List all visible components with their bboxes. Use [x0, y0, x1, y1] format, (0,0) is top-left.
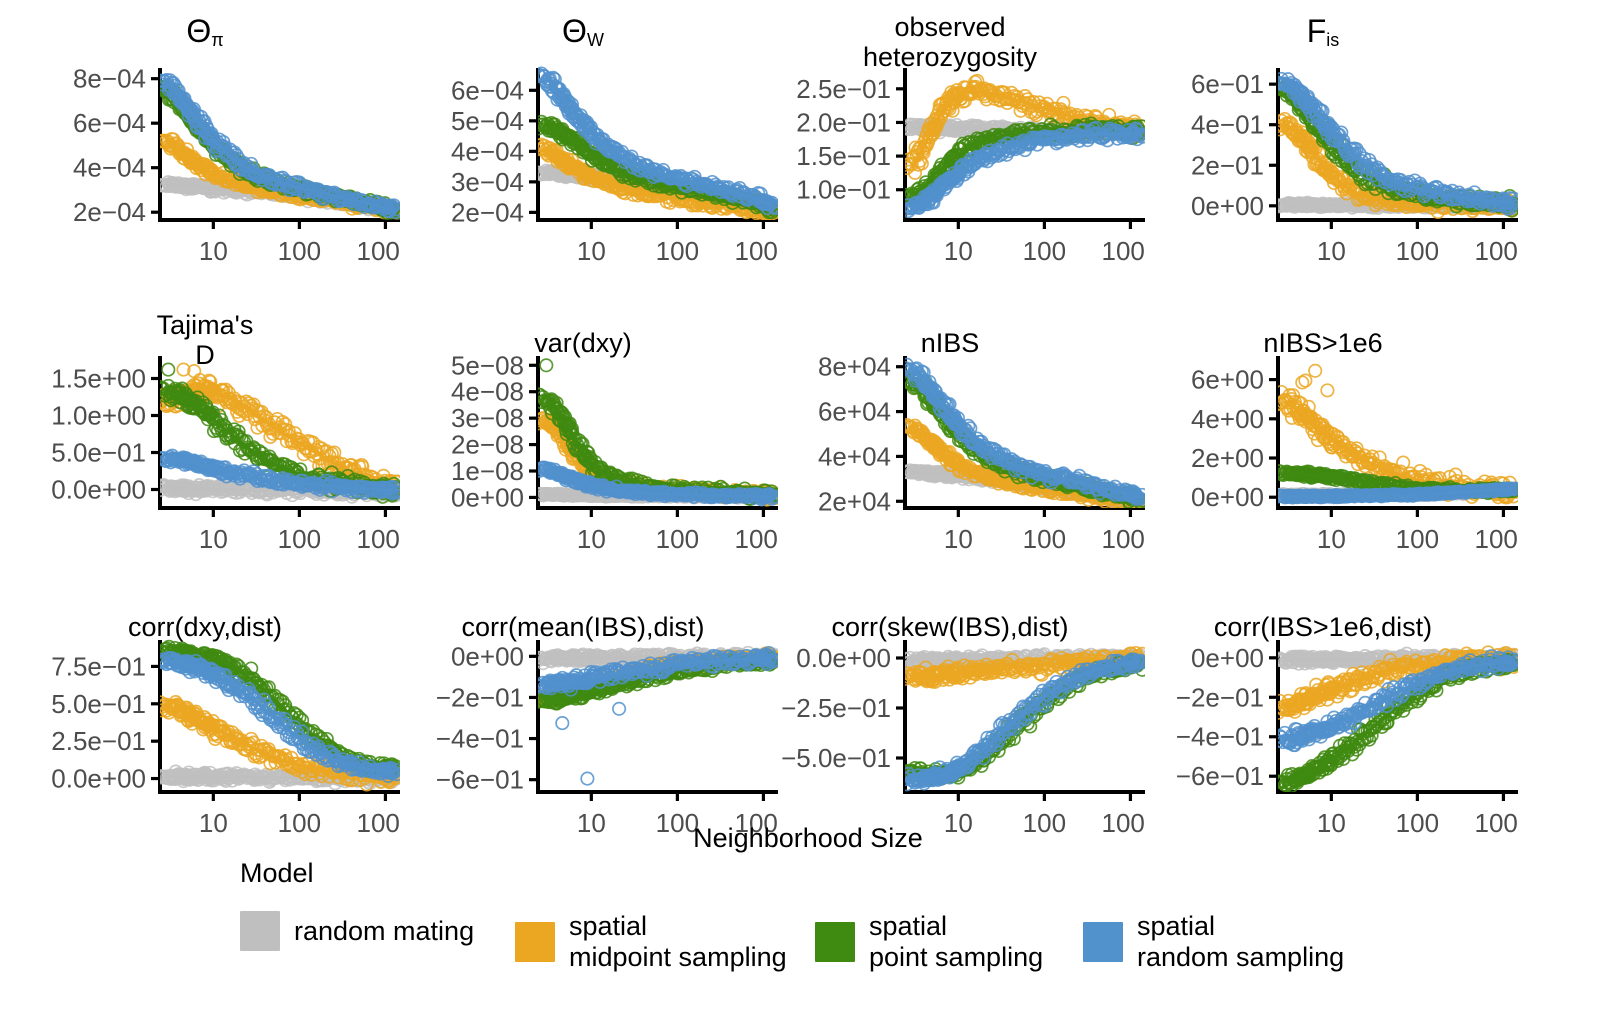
y-tick-label: 4e−04	[73, 153, 146, 183]
y-tick-label: 1.0e+00	[51, 401, 146, 431]
legend: Modelrandom matingspatialmidpoint sampli…	[240, 858, 1383, 973]
x-tick-label: 100	[656, 524, 699, 554]
x-tick-label: 10	[199, 236, 228, 266]
y-tick-label: 3e−04	[451, 167, 524, 197]
y-tick-label: 4e+00	[1191, 404, 1264, 434]
panel-theta-pi: Θπ2e−044e−046e−048e−04101001000	[10, 0, 400, 300]
y-tick-label: 1.5e−01	[796, 141, 891, 171]
panel-observed-heterozygosity: observedheterozygosity1.0e−011.5e−012.0e…	[755, 0, 1145, 300]
panel-nibs: nIBS2e+044e+046e+048e+04101001000	[755, 288, 1145, 588]
y-tick-label: 6e−04	[73, 108, 146, 138]
y-tick-label: 0e+00	[451, 641, 524, 671]
legend-item-random-mating[interactable]: random mating	[240, 911, 515, 951]
y-tick-label: 4e−08	[451, 377, 524, 407]
y-tick-label: 5e−08	[451, 350, 524, 380]
y-tick-label: 3e−08	[451, 403, 524, 433]
x-tick-label: 100	[656, 236, 699, 266]
y-tick-label: 5e−04	[451, 106, 524, 136]
y-tick-label: 2e+04	[818, 486, 891, 516]
y-tick-label: 8e+04	[818, 352, 891, 382]
legend-item-spatial-midpoint-sampling[interactable]: spatialmidpoint sampling	[515, 911, 815, 973]
plot-nibs: 2e+044e+046e+048e+04101001000	[755, 288, 1145, 588]
y-tick-label: 2e−04	[451, 197, 524, 227]
y-tick-label: 6e+04	[818, 397, 891, 427]
y-tick-label: −4e−01	[436, 724, 524, 754]
plot-theta-pi: 2e−044e−046e−048e−04101001000	[10, 0, 400, 300]
y-tick-label: 0e+00	[1191, 643, 1264, 673]
y-tick-label: 6e+00	[1191, 365, 1264, 395]
panel-theta-w: ΘW2e−043e−044e−045e−046e−04101001000	[388, 0, 778, 300]
legend-item-spatial-point-sampling[interactable]: spatialpoint sampling	[815, 911, 1083, 973]
y-tick-label: 5.0e−01	[51, 689, 146, 719]
y-tick-label: 2e−01	[1191, 150, 1264, 180]
y-tick-label: 1.0e−01	[796, 175, 891, 205]
legend-title: Model	[240, 858, 1383, 889]
y-tick-label: 0e+00	[1191, 482, 1264, 512]
y-tick-label: 8e−04	[73, 64, 146, 94]
plot-fis: 0e+002e−014e−016e−01101001000	[1128, 0, 1518, 300]
x-tick-label: 100	[1396, 524, 1439, 554]
y-tick-label: 2e+00	[1191, 443, 1264, 473]
series-points	[162, 363, 174, 375]
x-tick-label: 10	[944, 236, 973, 266]
y-tick-label: −4e−01	[1176, 722, 1264, 752]
plot-theta-w: 2e−043e−044e−045e−046e−04101001000	[388, 0, 778, 300]
legend-swatch-spatial-midpoint-sampling	[515, 922, 555, 962]
legend-swatch-spatial-random-sampling	[1083, 922, 1123, 962]
figure-root: Θπ2e−044e−046e−048e−04101001000ΘW2e−043e…	[0, 0, 1616, 1010]
series-points	[1296, 365, 1334, 397]
y-tick-label: 4e−04	[451, 136, 524, 166]
legend-item-spatial-random-sampling[interactable]: spatialrandom sampling	[1083, 911, 1383, 973]
x-tick-label: 10	[944, 524, 973, 554]
x-tick-label: 100	[278, 236, 321, 266]
x-tick-label: 10	[1317, 524, 1346, 554]
y-tick-label: 2.0e−01	[796, 107, 891, 137]
y-tick-label: 0.0e+00	[796, 643, 891, 673]
y-tick-label: 2.5e−01	[51, 726, 146, 756]
y-tick-label: 0e+00	[1191, 191, 1264, 221]
x-tick-label: 10	[577, 236, 606, 266]
y-tick-label: −5.0e−01	[781, 743, 891, 773]
legend-label-spatial-midpoint-sampling: spatialmidpoint sampling	[569, 911, 787, 973]
y-tick-label: 5.0e−01	[51, 438, 146, 468]
x-tick-label: 1000	[1475, 236, 1518, 266]
legend-swatch-random-mating	[240, 911, 280, 951]
panel-var-dxy: var(dxy)0e+001e−082e−083e−084e−085e−0810…	[388, 288, 778, 588]
x-tick-label: 100	[278, 524, 321, 554]
series-points	[556, 703, 625, 785]
y-tick-label: −6e−01	[436, 765, 524, 795]
legend-items: random matingspatialmidpoint samplingspa…	[240, 911, 1383, 973]
panel-tajimas-d: Tajima'sD0.0e+005.0e−011.0e+001.5e+00101…	[10, 288, 400, 588]
y-tick-label: 2e−04	[73, 197, 146, 227]
legend-label-random-mating: random mating	[294, 916, 474, 947]
y-tick-label: −2.5e−01	[781, 693, 891, 723]
y-tick-label: 1.5e+00	[51, 364, 146, 394]
plot-var-dxy: 0e+001e−082e−083e−084e−085e−08101001000	[388, 288, 778, 588]
panel-fis: Fis0e+002e−014e−016e−01101001000	[1128, 0, 1518, 300]
x-tick-label: 100	[1023, 524, 1066, 554]
plot-nibs-gt-1e6: 0e+002e+004e+006e+00101001000	[1128, 288, 1518, 588]
y-tick-label: 4e+04	[818, 441, 891, 471]
x-tick-label: 1000	[1475, 524, 1518, 554]
legend-swatch-spatial-point-sampling	[815, 922, 855, 962]
y-tick-label: 2.5e−01	[796, 74, 891, 104]
y-tick-label: −6e−01	[1176, 761, 1264, 791]
y-tick-label: 4e−01	[1191, 110, 1264, 140]
legend-label-spatial-random-sampling: spatialrandom sampling	[1137, 911, 1344, 973]
plot-tajimas-d: 0.0e+005.0e−011.0e+001.5e+00101001000	[10, 288, 400, 588]
y-tick-label: −2e−01	[436, 682, 524, 712]
series-points	[540, 359, 552, 371]
y-tick-label: −2e−01	[1176, 682, 1264, 712]
legend-label-spatial-point-sampling: spatialpoint sampling	[869, 911, 1043, 973]
y-tick-label: 0.0e+00	[51, 475, 146, 505]
panel-nibs-gt-1e6: nIBS>1e60e+002e+004e+006e+00101001000	[1128, 288, 1518, 588]
plot-observed-heterozygosity: 1.0e−011.5e−012.0e−012.5e−01101001000	[755, 0, 1145, 300]
x-tick-label: 10	[199, 524, 228, 554]
x-tick-label: 10	[577, 524, 606, 554]
x-tick-label: 100	[1023, 236, 1066, 266]
y-tick-label: 6e−04	[451, 75, 524, 105]
y-tick-label: 7.5e−01	[51, 651, 146, 681]
y-tick-label: 0.0e+00	[51, 764, 146, 794]
x-tick-label: 10	[1317, 236, 1346, 266]
y-tick-label: 0e+00	[451, 482, 524, 512]
y-tick-label: 1e−08	[451, 456, 524, 486]
y-tick-label: 2e−08	[451, 430, 524, 460]
y-tick-label: 6e−01	[1191, 69, 1264, 99]
x-tick-label: 100	[1396, 236, 1439, 266]
x-axis-label: Neighborhood Size	[0, 823, 1616, 854]
